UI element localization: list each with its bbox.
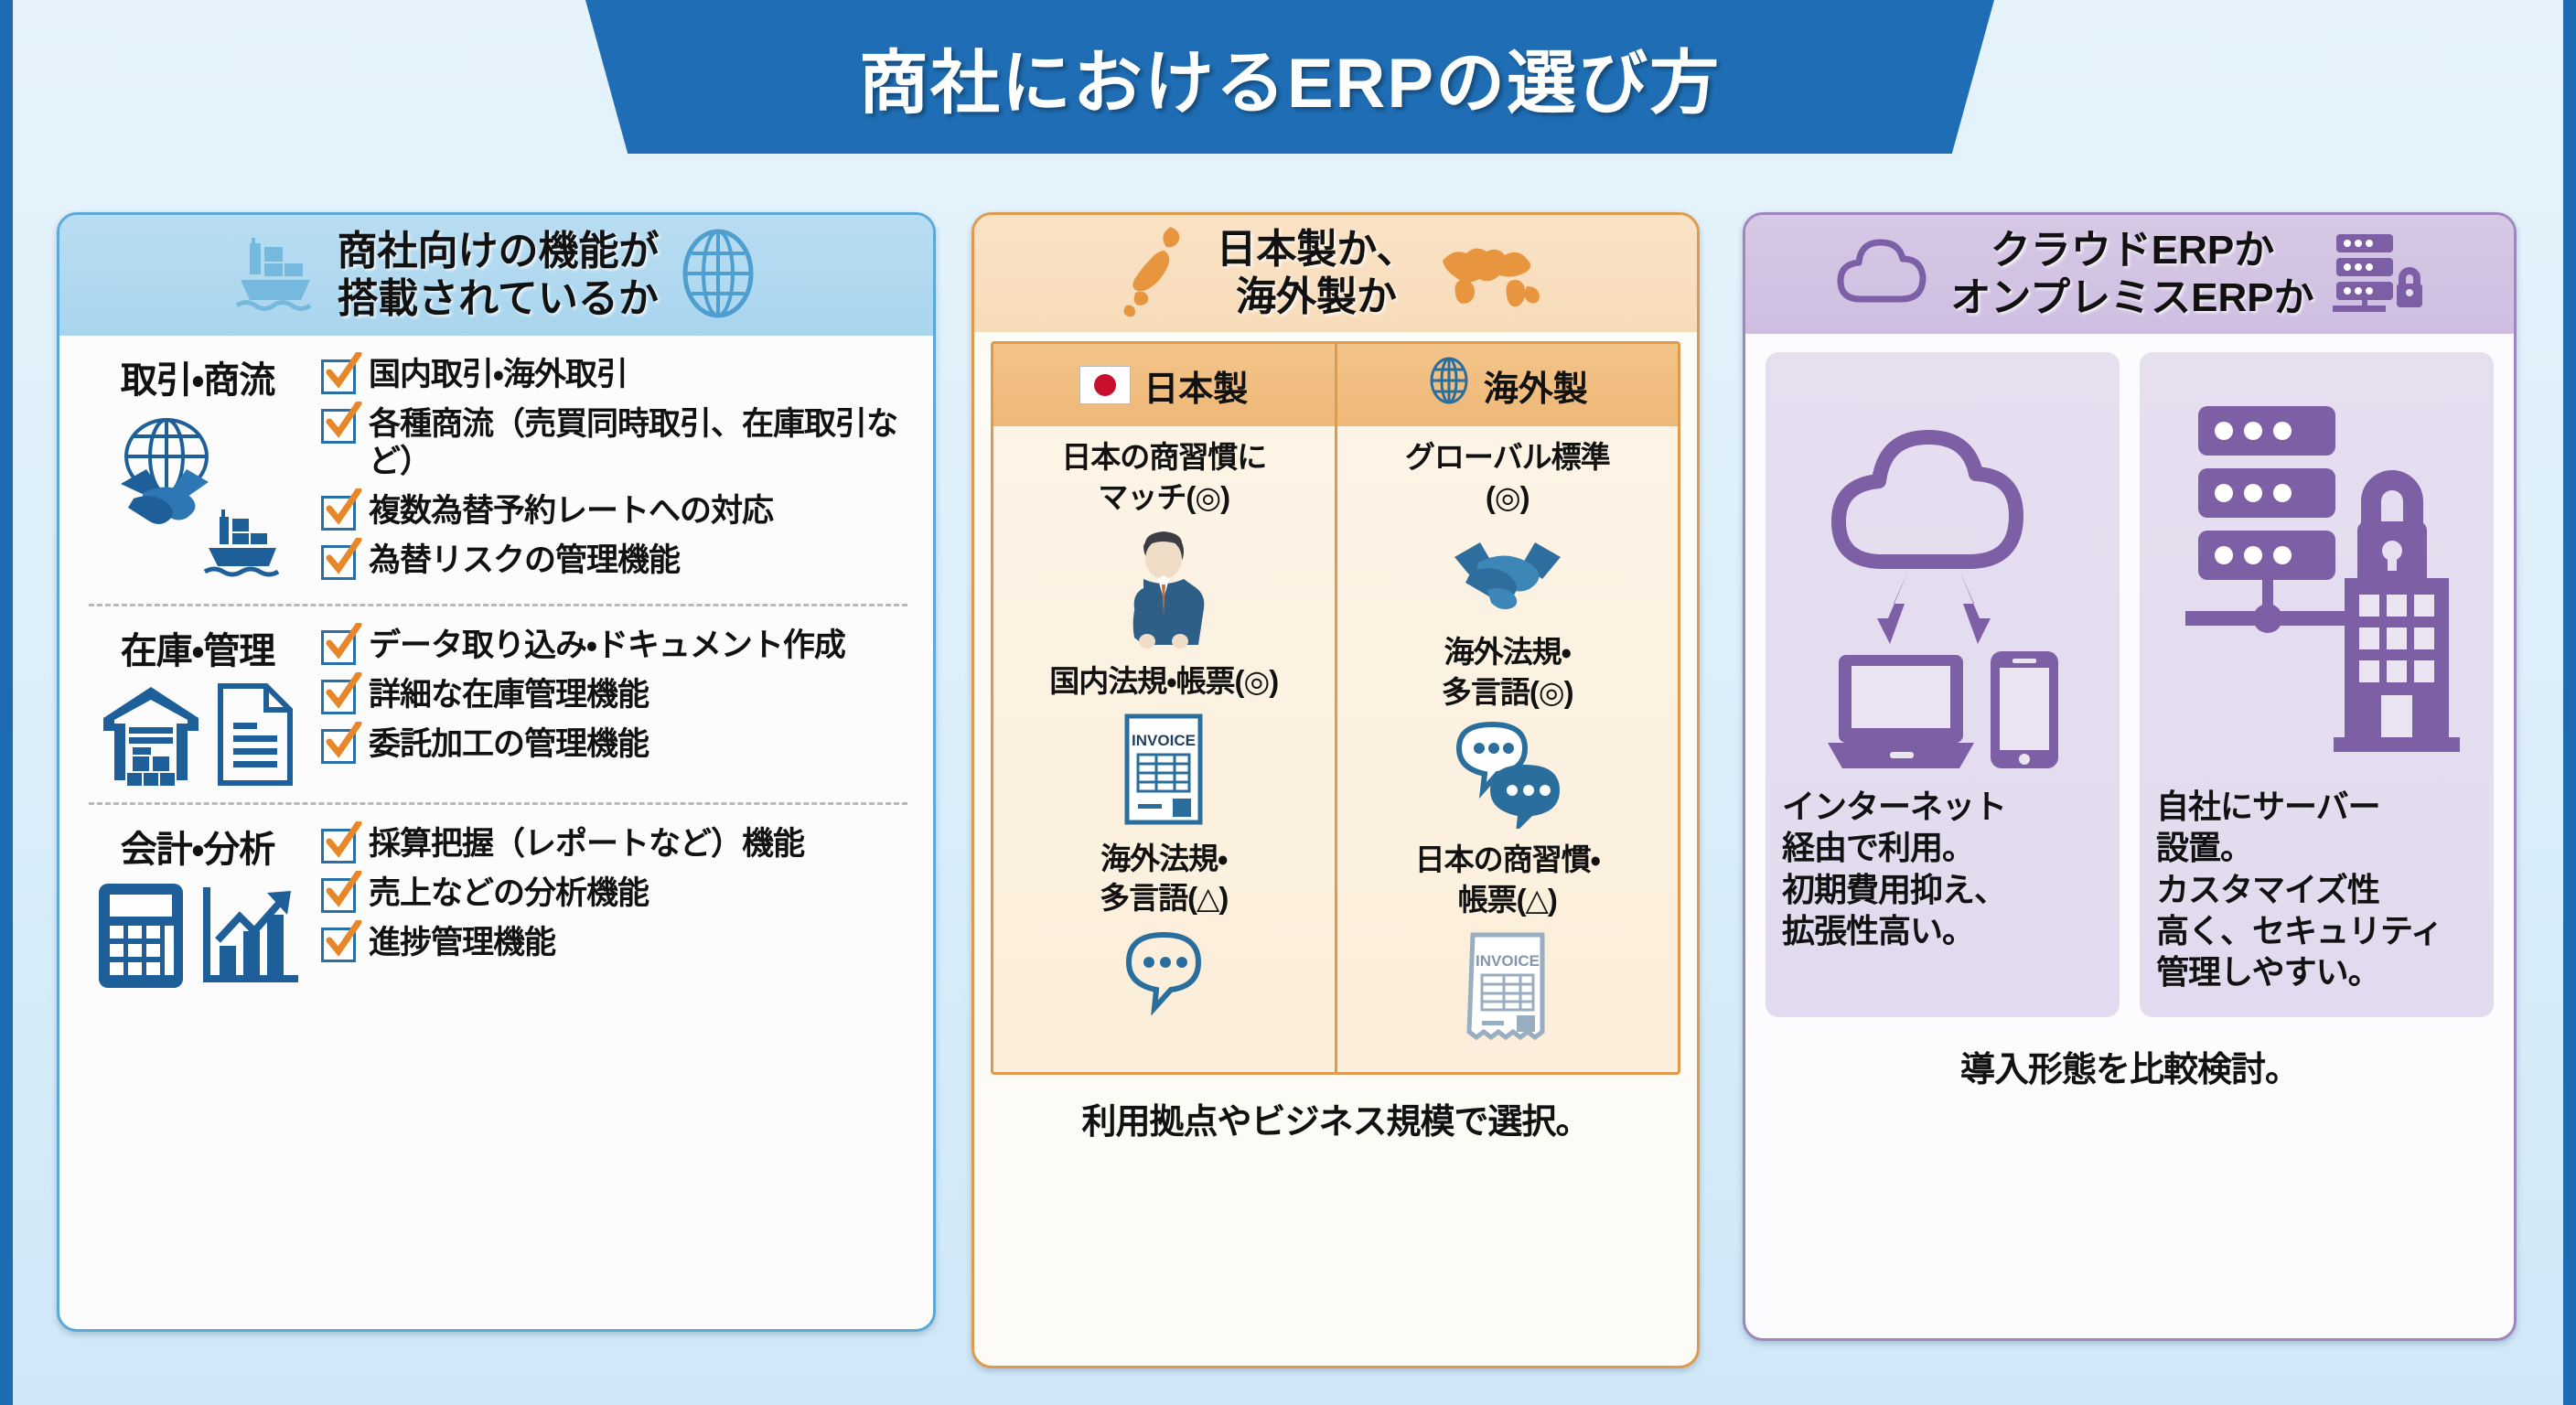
panel2-heading-line2: 海外製か <box>1216 273 1416 321</box>
section-divider <box>89 802 907 805</box>
onpremise-line-5: 管理しやすい。 <box>2156 951 2442 992</box>
cloud-devices-icon <box>1806 374 2080 786</box>
onpremise-card-text: 自社にサーバー 設置。 カスタマイズ性 高く、セキュリティ 管理しやすい。 <box>2156 786 2442 993</box>
cloud-icon <box>1833 235 1934 315</box>
cloud-line-3: 初期費用抑え、 <box>1782 869 2006 910</box>
checklist-item: 国内取引・海外取引 <box>321 356 913 394</box>
column-japan: 日本の商習慣に マッチ(◎) <box>993 426 1335 1072</box>
svg-text:INVOICE: INVOICE <box>1476 952 1540 970</box>
checklist-item: 売上などの分析機能 <box>321 874 913 913</box>
cloud-card-text: インターネット 経由で利用。 初期費用抑え、 拡張性高い。 <box>1782 786 2006 951</box>
check-icon <box>321 359 356 394</box>
world-map-icon <box>1433 233 1552 315</box>
panel3-heading: クラウドERPか オンプレミスERPか <box>1950 227 2313 322</box>
check-icon <box>321 928 356 962</box>
overseas-block1-line2: (◎) <box>1486 479 1529 516</box>
panel2-footer: 利用拠点やビジネス規模で選択。 <box>991 1075 1680 1158</box>
column-header-overseas: 海外製 <box>1335 344 1679 426</box>
checklist-item: 複数為替予約レートへの対応 <box>321 492 913 531</box>
checklist-item: 詳細な在庫管理機能 <box>321 676 913 714</box>
bowing-businessman-icon <box>1112 526 1215 650</box>
panel3-body: インターネット 経由で利用。 初期費用抑え、 拡張性高い。 <box>1745 334 2514 1017</box>
panel1-heading-line2: 搭載されているか <box>338 275 660 323</box>
section-accounting-left: 会計・分析 <box>83 820 312 993</box>
checklist-item: 採算把握（レポートなど）機能 <box>321 825 913 863</box>
japan-flag-icon <box>1079 366 1131 404</box>
checklist-label: 複数為替予約レートへの対応 <box>369 492 773 530</box>
checklist-item: 各種商流（売買同時取引、在庫取引など） <box>321 405 913 481</box>
section-trade-left: 取引・商流 <box>83 350 312 583</box>
panel3-heading-line2: オンプレミスERPか <box>1950 274 2313 322</box>
panel1-heading-line1: 商社向けの機能が <box>338 228 660 275</box>
overseas-block3-line2: 帳票(△) <box>1458 882 1557 918</box>
document-icon <box>211 681 299 788</box>
section-trade: 取引・商流 <box>83 350 913 591</box>
panel2-header: 日本製か、 海外製か <box>974 215 1697 332</box>
panel-deployment-model: クラウドERPか オンプレミスERPか <box>1743 212 2517 1341</box>
panel-origin-comparison: 日本製か、 海外製か 日 <box>971 212 1700 1368</box>
cloud-line-4: 拡張性高い。 <box>1782 910 2006 951</box>
overseas-block1-line1: グローバル標準 <box>1405 439 1610 476</box>
panel3-footer: 導入形態を比較検討。 <box>1745 1017 2514 1100</box>
section-inventory: 在庫・管理 <box>83 621 913 789</box>
title-banner: 商社におけるERPの選び方 <box>585 0 1994 154</box>
calculator-icon <box>91 878 190 993</box>
checklist-label: 委託加工の管理機能 <box>369 725 649 763</box>
section-accounting-icons <box>91 878 304 993</box>
globe-handshake-icon <box>106 409 289 583</box>
checklist-item: 為替リスクの管理機能 <box>321 542 913 580</box>
column-header-japan: 日本製 <box>993 344 1335 426</box>
comparison-header-row: 日本製 <box>993 344 1678 426</box>
checklist-label: データ取り込み・ドキュメント作成 <box>369 627 845 664</box>
panels-row: 商社向けの機能が 搭載されているか <box>0 212 2576 1374</box>
column-header-overseas-label: 海外製 <box>1484 360 1588 411</box>
section-inventory-title: 在庫・管理 <box>121 621 275 674</box>
panel2-heading-line1: 日本製か、 <box>1216 226 1416 273</box>
server-lock-icon <box>2331 229 2426 321</box>
japan-map-icon <box>1119 221 1199 327</box>
cloud-line-1: インターネット <box>1782 786 2006 827</box>
onpremise-line-3: カスタマイズ性 <box>2156 869 2442 910</box>
page-title: 商社におけるERPの選び方 <box>859 27 1721 127</box>
checklist-item: データ取り込み・ドキュメント作成 <box>321 627 913 665</box>
invoice-icon: INVOICE <box>1116 711 1211 828</box>
speech-bubble-icon <box>1116 928 1211 1015</box>
column-overseas: グローバル標準 (◎) 海 <box>1335 426 1679 1072</box>
check-icon <box>321 496 356 531</box>
panel1-body: 取引・商流 <box>59 336 933 1003</box>
bar-chart-arrow-icon <box>196 880 304 992</box>
japan-block2-line1: 国内法規・帳票(◎) <box>1049 663 1278 700</box>
overseas-block2-line1: 海外法規・ <box>1444 634 1571 670</box>
cargo-ship-icon <box>233 234 321 317</box>
checklist-label: 各種商流（売買同時取引、在庫取引など） <box>369 405 913 481</box>
onpremise-line-1: 自社にサーバー <box>2156 786 2442 827</box>
checklist-item: 進捗管理機能 <box>321 924 913 962</box>
deployment-card-cloud: インターネット 経由で利用。 初期費用抑え、 拡張性高い。 <box>1766 352 2120 1017</box>
panel3-header: クラウドERPか オンプレミスERPか <box>1745 215 2514 334</box>
section-accounting-items: 採算把握（レポートなど）機能 売上などの分析機能 <box>321 820 913 973</box>
panel-shosha-features: 商社向けの機能が 搭載されているか <box>57 212 936 1332</box>
speech-bubbles-icon <box>1450 721 1565 829</box>
checklist-label: 売上などの分析機能 <box>369 874 649 912</box>
comparison-body-row: 日本の商習慣に マッチ(◎) <box>993 426 1678 1072</box>
warehouse-icon <box>96 680 206 789</box>
japan-block1-line2: マッチ(◎) <box>1098 479 1229 516</box>
checklist-label: 国内取引・海外取引 <box>369 356 628 393</box>
section-inventory-left: 在庫・管理 <box>83 621 312 789</box>
checklist-item: 委託加工の管理機能 <box>321 725 913 764</box>
checklist-label: 採算把握（レポートなど）機能 <box>369 825 804 863</box>
globe-icon <box>1427 357 1471 413</box>
japan-block1-line1: 日本の商習慣に <box>1061 439 1266 476</box>
server-building-lock-icon <box>2171 374 2463 786</box>
japan-block3-line1: 海外法規・ <box>1100 841 1227 877</box>
panel1-header: 商社向けの機能が 搭載されているか <box>59 215 933 336</box>
japan-block3-line2: 多言語(△) <box>1100 880 1228 917</box>
check-icon <box>321 829 356 863</box>
section-accounting-title: 会計・分析 <box>121 820 275 873</box>
section-trade-title: 取引・商流 <box>121 350 275 403</box>
panel3-heading-line1: クラウドERPか <box>1950 227 2313 274</box>
checklist-label: 進捗管理機能 <box>369 924 555 961</box>
invoice-faded-icon: INVOICE <box>1460 929 1555 1046</box>
check-icon <box>321 878 356 913</box>
infographic-page: 商社におけるERPの選び方 商社向けの機能が <box>0 0 2576 1405</box>
check-icon <box>321 680 356 714</box>
deployment-card-onpremise: 自社にサーバー 設置。 カスタマイズ性 高く、セキュリティ 管理しやすい。 <box>2140 352 2494 1017</box>
section-trade-icons <box>106 409 289 583</box>
panel2-body: 日本製 <box>974 332 1697 1158</box>
check-icon <box>321 545 356 580</box>
check-icon <box>321 630 356 665</box>
svg-text:INVOICE: INVOICE <box>1132 732 1196 749</box>
globe-icon <box>676 228 760 324</box>
overseas-block2-line2: 多言語(◎) <box>1442 674 1573 711</box>
origin-comparison-table: 日本製 <box>991 341 1680 1075</box>
section-trade-items: 国内取引・海外取引 各種商流（売買同時取引、在庫取引など） <box>321 350 913 591</box>
onpremise-line-2: 設置。 <box>2156 827 2442 868</box>
handshake-icon <box>1449 526 1566 621</box>
overseas-block3-line1: 日本の商習慣・ <box>1415 842 1600 878</box>
panel2-heading: 日本製か、 海外製か <box>1216 226 1416 321</box>
column-header-japan-label: 日本製 <box>1143 360 1248 411</box>
checklist-label: 為替リスクの管理機能 <box>369 542 680 579</box>
onpremise-line-4: 高く、セキュリティ <box>2156 910 2442 951</box>
panel1-heading: 商社向けの機能が 搭載されているか <box>338 228 660 323</box>
check-icon <box>321 729 356 764</box>
section-divider <box>89 604 907 606</box>
section-inventory-icons <box>96 680 299 789</box>
checklist-label: 詳細な在庫管理機能 <box>369 676 649 713</box>
cloud-line-2: 経由で利用。 <box>1782 827 2006 868</box>
check-icon <box>321 409 356 444</box>
section-inventory-items: データ取り込み・ドキュメント作成 詳細な在庫管理機能 <box>321 621 913 775</box>
section-accounting: 会計・分析 <box>83 820 913 993</box>
